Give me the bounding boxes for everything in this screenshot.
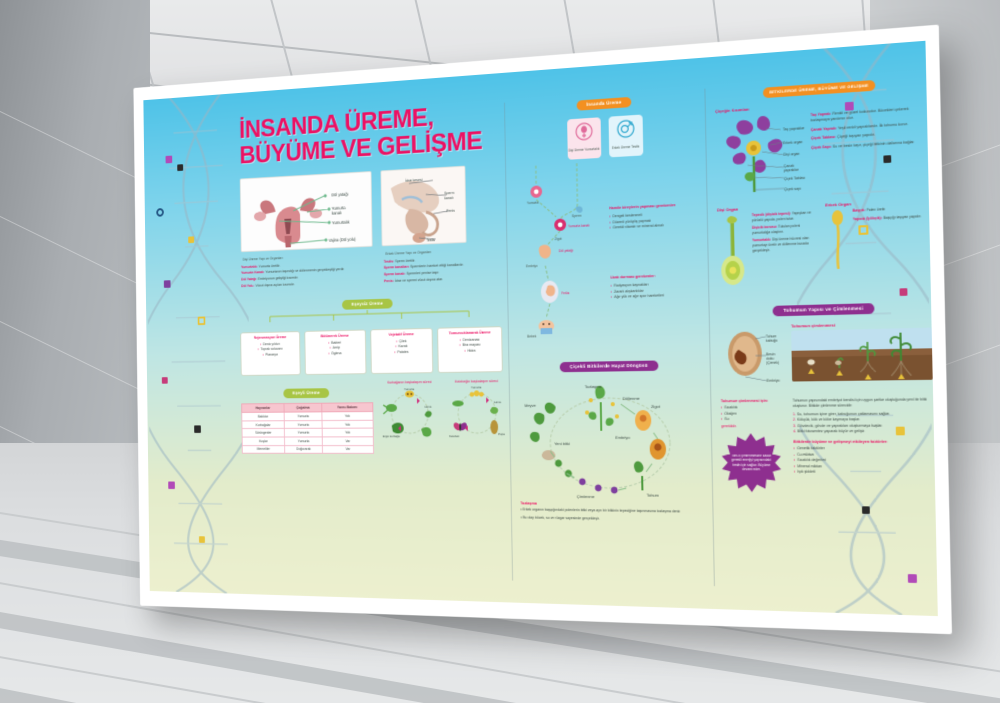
svg-text:Penis: Penis	[446, 208, 455, 212]
human-development-flow: Yumurta Sperm Yumurta kanalı Zigot Döl y…	[515, 156, 702, 341]
flower-part-definitions: Taç Yaprak: Renkli ve güzel kokuludur. B…	[810, 106, 926, 199]
plant-lifecycle-header: Çiçekli Bitkilerde Hayat Döngüsü	[560, 360, 658, 372]
svg-text:İdrar kesesi: İdrar kesesi	[405, 176, 422, 182]
step-item: 2. Kökçük, kök ve köke kaymaya başlar.	[793, 417, 934, 424]
node-fetus: Fetüs	[561, 291, 569, 295]
pistil-title: Dişi Organ	[717, 203, 819, 213]
germination-requirements: Sıcaklık Oksijen Su	[721, 405, 787, 423]
male-definitions: Testis: Sperm üretilir. Sperm kanalları:…	[384, 256, 473, 286]
svg-text:Embriyo: Embriyo	[767, 378, 780, 382]
table-row: Sürüngenler Yumurta Yok	[242, 428, 373, 437]
asexual-reproduction-chart: Eşeysiz Üreme Rejenerasyon Üreme Deniz y…	[240, 288, 503, 376]
pistil-part: Yumurtalık: Dişi üreme hücresi olan yumu…	[752, 235, 818, 253]
flower-icon: Taç yapraklarErkek organ Dişi organÇanak…	[715, 113, 807, 198]
left-column: İNSANDA ÜREME, BÜYÜME VE GELİŞME	[237, 73, 507, 602]
svg-text:yapraklar: yapraklar	[784, 168, 800, 173]
sexual-reproduction-section: Eşeyli Üreme Hayvanlar Çoğalma Yavru Bak…	[241, 379, 504, 454]
pregnancy-tips: Hamile bireylerin yapması gerekenler: De…	[609, 202, 697, 231]
step-item: 4. Bitki fotosentez yaparak büyür ve gel…	[793, 429, 934, 435]
svg-text:Embriyo: Embriyo	[615, 435, 631, 440]
banner-frame: İNSANDA ÜREME, BÜYÜME VE GELİŞME	[133, 25, 952, 635]
svg-text:Çiçek sapı: Çiçek sapı	[784, 186, 801, 191]
reproductive-organs-section: Dişi Organ Tepecik (dişicik tepesi): Yap…	[717, 198, 931, 290]
right-column: BİTKİLERDE ÜREME, BÜYÜME VE GELİŞME Çiçe…	[714, 41, 938, 617]
asexual-header-chip: Eşeysiz Üreme	[342, 298, 392, 309]
female-definitions: Yumurtalık: Yumurta üretilir. Yumurta Ka…	[241, 260, 373, 291]
banner-mockup: İNSANDA ÜREME, BÜYÜME VE GELİŞME	[88, 58, 928, 618]
male-anatomy-photo: İdrar kesesiSpermkanalı PenisTestis	[380, 165, 466, 246]
lifecycle-cycle-icon: TozlaşmaDöllenme ZigotEmbriyo TohumÇimle…	[518, 376, 705, 501]
svg-text:Tozlaşma: Tozlaşma	[585, 384, 603, 389]
anatomy-photos: Döl yatağıYumurta kanalıYumurtalık Vajin…	[240, 163, 501, 252]
gonad-label: Dişi Üreme Yumurtalık	[567, 147, 601, 153]
branch-card: Bölünerek Üreme Bakteri Amip Öglena	[304, 330, 366, 376]
pregnancy-avoid: Uzak durması gerekenler: Radyasyon kayna…	[610, 273, 698, 301]
branch-card: Vejetatif Üreme Çilek Kavak Patates	[370, 328, 434, 374]
definition-item: Penis: İdrar ve spermi vücut dışına atar…	[384, 277, 473, 285]
branch-card: Tomurcuklanarak Üreme Denizanası Bira ma…	[437, 326, 502, 373]
pollination-title: Tozlaşma	[520, 501, 705, 507]
testis-icon	[616, 119, 634, 138]
germination-photo	[791, 328, 933, 382]
tip-item: Dengeli beslenmeli	[609, 210, 696, 220]
svg-text:Çimlenme: Çimlenme	[577, 494, 595, 499]
svg-text:kabuğu: kabuğu	[766, 338, 778, 343]
tree-connectors	[240, 306, 502, 323]
svg-text:Kelebek: Kelebek	[449, 434, 460, 438]
svg-text:Ergin kurbağa: Ergin kurbağa	[383, 434, 400, 438]
flower-diagram: Taç yapraklarErkek organ Dişi organÇanak…	[715, 113, 807, 203]
gonad-cards: Dişi Üreme Yumurtalık Erkek Üreme Testis	[514, 111, 698, 163]
branch-title: Rejenerasyon Üreme	[245, 335, 296, 340]
asexual-branches: Rejenerasyon Üreme Deniz yıldızı Toprak …	[240, 326, 503, 376]
factor-item: Su miktarı	[794, 452, 935, 458]
svg-text:(Çenek): (Çenek)	[766, 360, 779, 365]
tip-item: Düzenli yürüyüş yapmalı	[609, 216, 696, 226]
seed-icon: Tohumkabuğu Besindoku(Çenek) Embriyo	[719, 323, 786, 389]
seed-energy-badge: Tohuk çimlenmesine kadar gerekli enerjiy…	[721, 433, 781, 492]
pistil-section: Dişi Organ Tepecik (dişicik tepesi): Yap…	[717, 203, 820, 290]
metamorphosis-diagrams: Kurbağanın başkalaşım süreci YumurtaLarv…	[380, 379, 508, 454]
req-item: Sıcaklık	[721, 405, 787, 411]
female-gonad-card: Dişi Üreme Yumurtalık	[567, 117, 601, 160]
svg-text:Yeni bitki: Yeni bitki	[554, 441, 570, 446]
svg-text:Tohum: Tohum	[766, 334, 777, 339]
flower-def: Çiçek Tablası: Çiçeği taşıyan yapıdır.	[811, 130, 926, 143]
avoid-item: Ağır yük ve ağır spor hareketleri	[611, 292, 698, 300]
badge-text: Tohuk çimlenmesine kadar gerekli enerjiy…	[722, 453, 781, 473]
svg-text:Sperm: Sperm	[444, 191, 454, 196]
branch-title: Vejetatif Üreme	[374, 332, 428, 337]
step-item: 1. Su, tohumun içine girer, kabuğunun ça…	[793, 411, 934, 418]
svg-text:Çiçek Tablası: Çiçek Tablası	[784, 176, 806, 181]
svg-text:Döl yatağı: Döl yatağı	[331, 191, 348, 197]
branch-card: Rejenerasyon Üreme Deniz yıldızı Toprak …	[240, 331, 300, 376]
svg-text:Çanak: Çanak	[784, 164, 795, 169]
flower-def: Taç Yaprak: Renkli ve güzel kokuludur. B…	[810, 106, 925, 125]
male-gonad-card: Erkek Üreme Testis	[608, 115, 643, 158]
branch-title: Tomurcuklanarak Üreme	[442, 330, 497, 335]
dna-helix-icon-right	[792, 41, 936, 616]
stamen-section: Erkek Organ Başçık: Polen üretir. Yapıcı…	[825, 198, 931, 287]
stamen-title: Erkek Organ	[825, 198, 929, 208]
avoid-item: Radyasyon kaynakları	[611, 281, 698, 290]
svg-text:doku: doku	[766, 356, 774, 360]
svg-text:Yumurtalık: Yumurtalık	[332, 219, 351, 225]
butterfly-metamorphosis: Kelebeğin başkalaşım süreci	[446, 379, 508, 454]
factor-item: Mineral miktarı	[794, 464, 935, 471]
pistil-icon	[717, 213, 750, 289]
svg-text:Meyve: Meyve	[524, 403, 535, 408]
node-zigot: Zigot	[555, 237, 562, 241]
svg-text:Döllenme: Döllenme	[623, 396, 640, 401]
germination-details: Tohumun çimlenmesi için: Sıcaklık Oksije…	[721, 397, 936, 494]
table-row: Memeliler Doğurarak Var	[242, 445, 373, 453]
seed-section-header: Tohumun Yapısı ve Çimlenmesi	[772, 303, 874, 316]
germination-text: Tohumun yapısındaki embriyot kendisi içi…	[792, 397, 933, 409]
frog-metamorphosis: Kurbağanın başkalaşım süreci YumurtaLarv…	[380, 380, 440, 454]
pollination-text: • Erkek organın başçığındaki polenlerin …	[520, 507, 705, 515]
avoid-title: Uzak durması gerekenler:	[610, 273, 697, 281]
frog-cycle-icon: YumurtaLarvaErgin kurbağa	[380, 386, 440, 441]
node-yumurta: Yumurta	[527, 201, 539, 206]
plant-lifecycle-diagram: TozlaşmaDöllenme ZigotEmbriyo TohumÇimle…	[518, 376, 705, 501]
middle-column: İnsanda Üreme Dişi Üreme Yumurtalık Erke…	[513, 58, 707, 609]
req-item: Su	[721, 417, 787, 423]
svg-text:Taç yapraklar: Taç yapraklar	[783, 126, 806, 132]
flower-def: Çanak Yaprak: Yeşil renkli yapraklardır.…	[811, 121, 926, 134]
avoid-item: Zararlı alışkanlıklar	[611, 287, 698, 295]
dna-helix-icon-left	[145, 92, 252, 594]
branch-title: Bölünerek Üreme	[309, 334, 361, 339]
germination-photo-section: Tohumun çimlenmesi	[791, 320, 933, 394]
svg-text:kanalı: kanalı	[444, 195, 453, 199]
svg-text:Larva: Larva	[424, 405, 431, 409]
factor-item: Genetik faktörler	[793, 446, 934, 452]
svg-text:Besin: Besin	[766, 352, 775, 356]
node-sperm: Sperm	[572, 214, 582, 218]
svg-text:Erkek organ: Erkek organ	[783, 140, 803, 145]
banner-artwork: İNSANDA ÜREME, BÜYÜME VE GELİŞME	[143, 41, 938, 617]
svg-text:Zigot: Zigot	[651, 404, 661, 409]
step-item: 3. Gövdecik, gövde ve yaprakları oluştur…	[793, 423, 934, 430]
animal-reproduction-table: Hayvanlar Çoğalma Yavru Bakımı Balıklar …	[241, 402, 374, 454]
req-footer: gereklidir.	[721, 424, 786, 428]
factor-item: Sıcaklık değerleri	[794, 458, 935, 464]
germination-title: Tohumun çimlenmesi	[791, 320, 932, 329]
development-connectors	[515, 156, 702, 341]
growth-factors-title: Bitkilerde büyüme ve gelişmeyi etkileyen…	[793, 440, 934, 444]
svg-text:Dişi organ: Dişi organ	[783, 152, 800, 157]
butterfly-cycle-icon: YumurtaLarva PupaKelebek	[446, 385, 507, 441]
column-divider-2	[704, 89, 715, 587]
growth-factors: Genetik faktörler Su miktarı Sıcaklık de…	[793, 446, 935, 476]
gonad-label: Erkek Üreme Testis	[609, 144, 643, 150]
pistil-part: Dişicik borusu: Tutulan poleni yumurtalı…	[752, 223, 818, 236]
germination-steps: 1. Su, tohumun içine girer, kabuğunun ça…	[793, 411, 934, 436]
node-yumurta-kanali: Yumurta kanalı	[568, 223, 590, 228]
flower-parts-title: Çiçeğin Kısımları	[715, 95, 927, 114]
req-item: Oksijen	[721, 411, 787, 417]
svg-text:Yumurta: Yumurta	[471, 385, 482, 389]
tips-title: Hamile bireylerin yapması gerekenler:	[609, 202, 696, 211]
node-dol-yatagi: Döl yatağı	[559, 248, 574, 253]
pollination-section: Tozlaşma • Erkek organın başçığındaki po…	[520, 501, 705, 523]
column-divider-1	[504, 103, 513, 581]
svg-text:Testis: Testis	[426, 238, 435, 242]
germination-req-title: Tohumun çimlenmesi için:	[721, 399, 786, 404]
flower-def: Çiçek Sapı: Su ve besin taşır, çiçeği bi…	[811, 139, 926, 151]
pistil-part: Tepecik (dişicik tepesi): Yapışkan ve pü…	[752, 210, 818, 223]
pollination-text: • Bu olay böcek, su ve rüzgar sayesinde …	[521, 515, 706, 523]
factor-item: Işık şiddeti	[794, 470, 935, 477]
female-anatomy-photo: Döl yatağıYumurta kanalıYumurtalık Vajin…	[240, 171, 373, 252]
svg-text:Larva: Larva	[494, 400, 502, 404]
table-row: Kuşlar Yumurta Var	[242, 437, 373, 445]
seed-structure: Tohumkabuğu Besindoku(Çenek) Embriyo	[719, 323, 786, 394]
page-title: İNSANDA ÜREME, BÜYÜME VE GELİŞME	[239, 99, 499, 169]
stamen-part: Başçık: Polen üretir.	[853, 205, 926, 214]
human-reproduction-header: İnsanda Üreme	[576, 96, 631, 110]
svg-text:Tohum: Tohum	[646, 492, 658, 497]
seed-section: Tohumkabuğu Besindoku(Çenek) Embriyo Toh…	[719, 320, 933, 395]
ovary-icon	[575, 122, 593, 141]
node-embriyo: Embriyo	[526, 264, 538, 268]
flower-parts-section: Taç yapraklarErkek organ Dişi organÇanak…	[715, 106, 929, 204]
node-bebek: Bebek	[527, 334, 536, 338]
sexual-header-chip: Eşeyli Üreme	[284, 388, 329, 398]
svg-text:Yumurta: Yumurta	[404, 387, 415, 391]
stamen-part: Yapıcık (İplikçik): Başçığı taşıyan yapı…	[853, 214, 926, 222]
svg-text:kanalı: kanalı	[332, 210, 342, 215]
stamen-icon	[825, 209, 850, 274]
svg-text:Pupa: Pupa	[498, 432, 505, 436]
tip-item: Gerekli vitamin ve mineral almalı	[610, 222, 697, 232]
plant-section-header: BİTKİLERDE ÜREME, BÜYÜME VE GELİŞME	[763, 79, 875, 97]
